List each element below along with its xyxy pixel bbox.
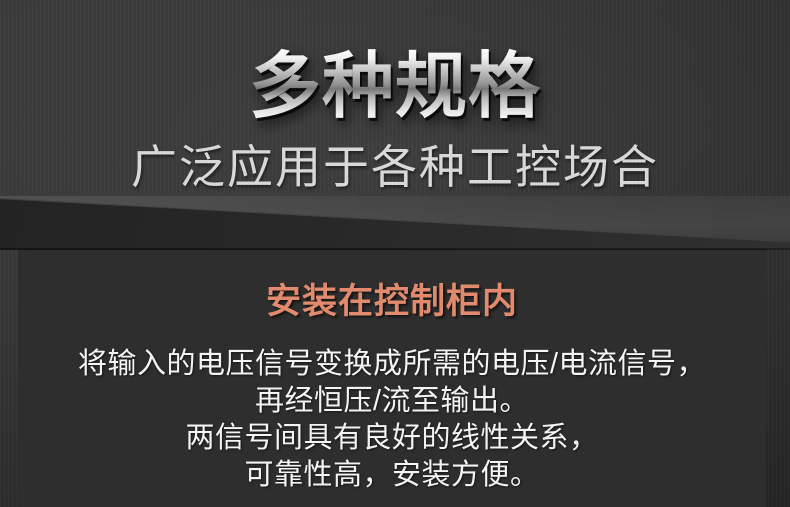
panel-body-text: 将输入的电压信号变换成所需的电压/电流信号， 再经恒压/流至输出。 两信号间具有… [18,346,766,494]
body-line: 将输入的电压信号变换成所需的电压/电流信号， [18,346,766,383]
body-line: 两信号间具有良好的线性关系， [18,420,766,457]
page-subtitle: 广泛应用于各种工控场合 [0,140,790,194]
diagonal-divider-band [0,196,790,250]
page-title: 多种规格 [0,44,790,130]
panel-heading: 安装在控制柜内 [18,281,766,323]
product-feature-banner: 多种规格 广泛应用于各种工控场合 安装在控制柜内 将输入的电压信号变换成所需的电… [0,0,790,507]
body-line: 再经恒压/流至输出。 [18,383,766,420]
description-panel: 安装在控制柜内 将输入的电压信号变换成所需的电压/电流信号， 再经恒压/流至输出… [18,250,766,507]
body-line: 可靠性高，安装方便。 [18,457,766,494]
hero-section: 多种规格 广泛应用于各种工控场合 [0,0,790,198]
